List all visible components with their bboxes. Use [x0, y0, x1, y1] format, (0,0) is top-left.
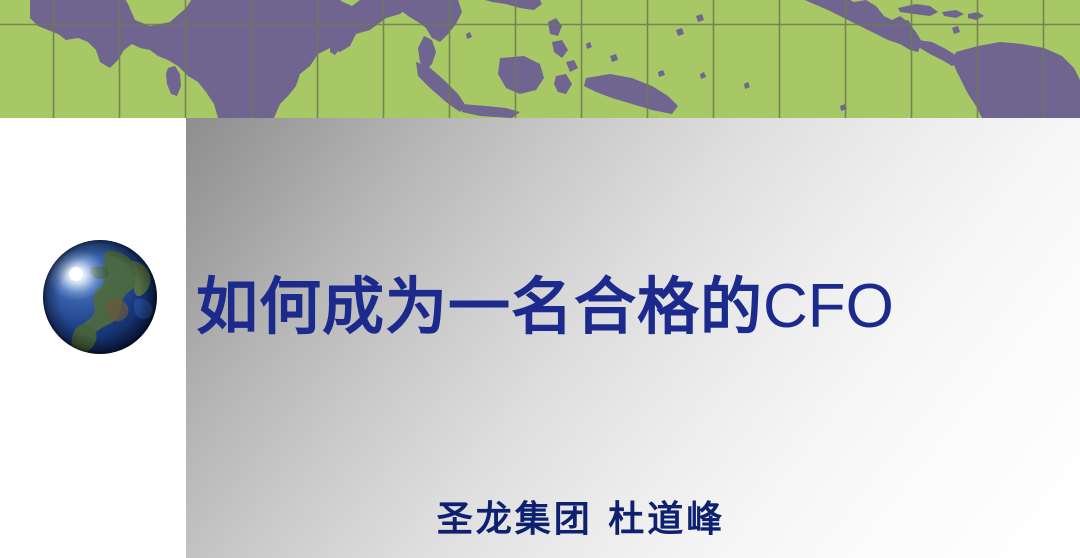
- map-ocean: [0, 0, 1080, 118]
- slide-title-latin: CFO: [763, 276, 894, 338]
- globe-limb-shadow: [43, 240, 157, 354]
- presentation-slide: 如何成为一名合格的CFO 圣龙集团 杜道峰: [0, 0, 1080, 558]
- slide-subtitle-text: 圣龙集团 杜道峰: [437, 502, 726, 538]
- globe-icon: [40, 237, 160, 357]
- world-map-banner: [0, 0, 1080, 118]
- slide-subtitle: 圣龙集团 杜道峰: [186, 496, 976, 544]
- slide-title-chinese: 如何成为一名合格的: [196, 276, 763, 338]
- world-map-svg: [0, 0, 1080, 118]
- globe-graphic: [40, 237, 160, 357]
- slide-title: 如何成为一名合格的CFO: [196, 265, 996, 349]
